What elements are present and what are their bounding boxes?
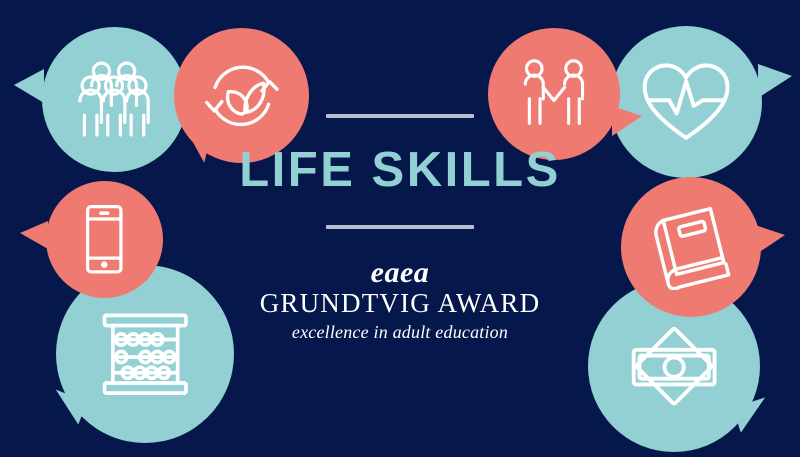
bubble-literacy [621,177,761,317]
bubble-tail [758,64,792,98]
bubble-tail [14,69,44,103]
life-skills-poster: LIFE SKILLS eaea GRUNDTVIG AWARD excelle… [0,0,800,457]
logo-tagline: excellence in adult education [260,321,541,344]
bubble-digital-skills [46,181,163,298]
book-icon [648,204,735,291]
logo-award-name: GRUNDTVIG AWARD [260,288,541,319]
logo-organisation: eaea [260,257,541,289]
bottom-rule [326,225,474,229]
bubble-sustainability [174,28,309,163]
group-of-people-icon [70,55,160,145]
top-rule [326,114,474,118]
eaea-grundtvig-award-logo: eaea GRUNDTVIG AWARD excellence in adult… [260,257,541,343]
heart-pulse-icon [639,55,733,149]
bubble-cooperation [488,28,620,160]
bubble-group-of-people [42,27,187,172]
page-title: LIFE SKILLS [239,146,561,195]
bubble-tail [612,106,642,136]
bubble-health [610,26,762,178]
bubble-tail [733,397,773,432]
recycle-leaf-icon [200,54,284,138]
money-icon [626,318,722,414]
smartphone-icon [68,203,141,276]
bubble-tail [20,221,48,249]
bubble-tail [47,390,88,425]
bubble-tail [755,225,785,255]
abacus-icon [99,308,192,401]
bubble-tail [179,129,211,162]
handshake-icon [513,53,595,135]
